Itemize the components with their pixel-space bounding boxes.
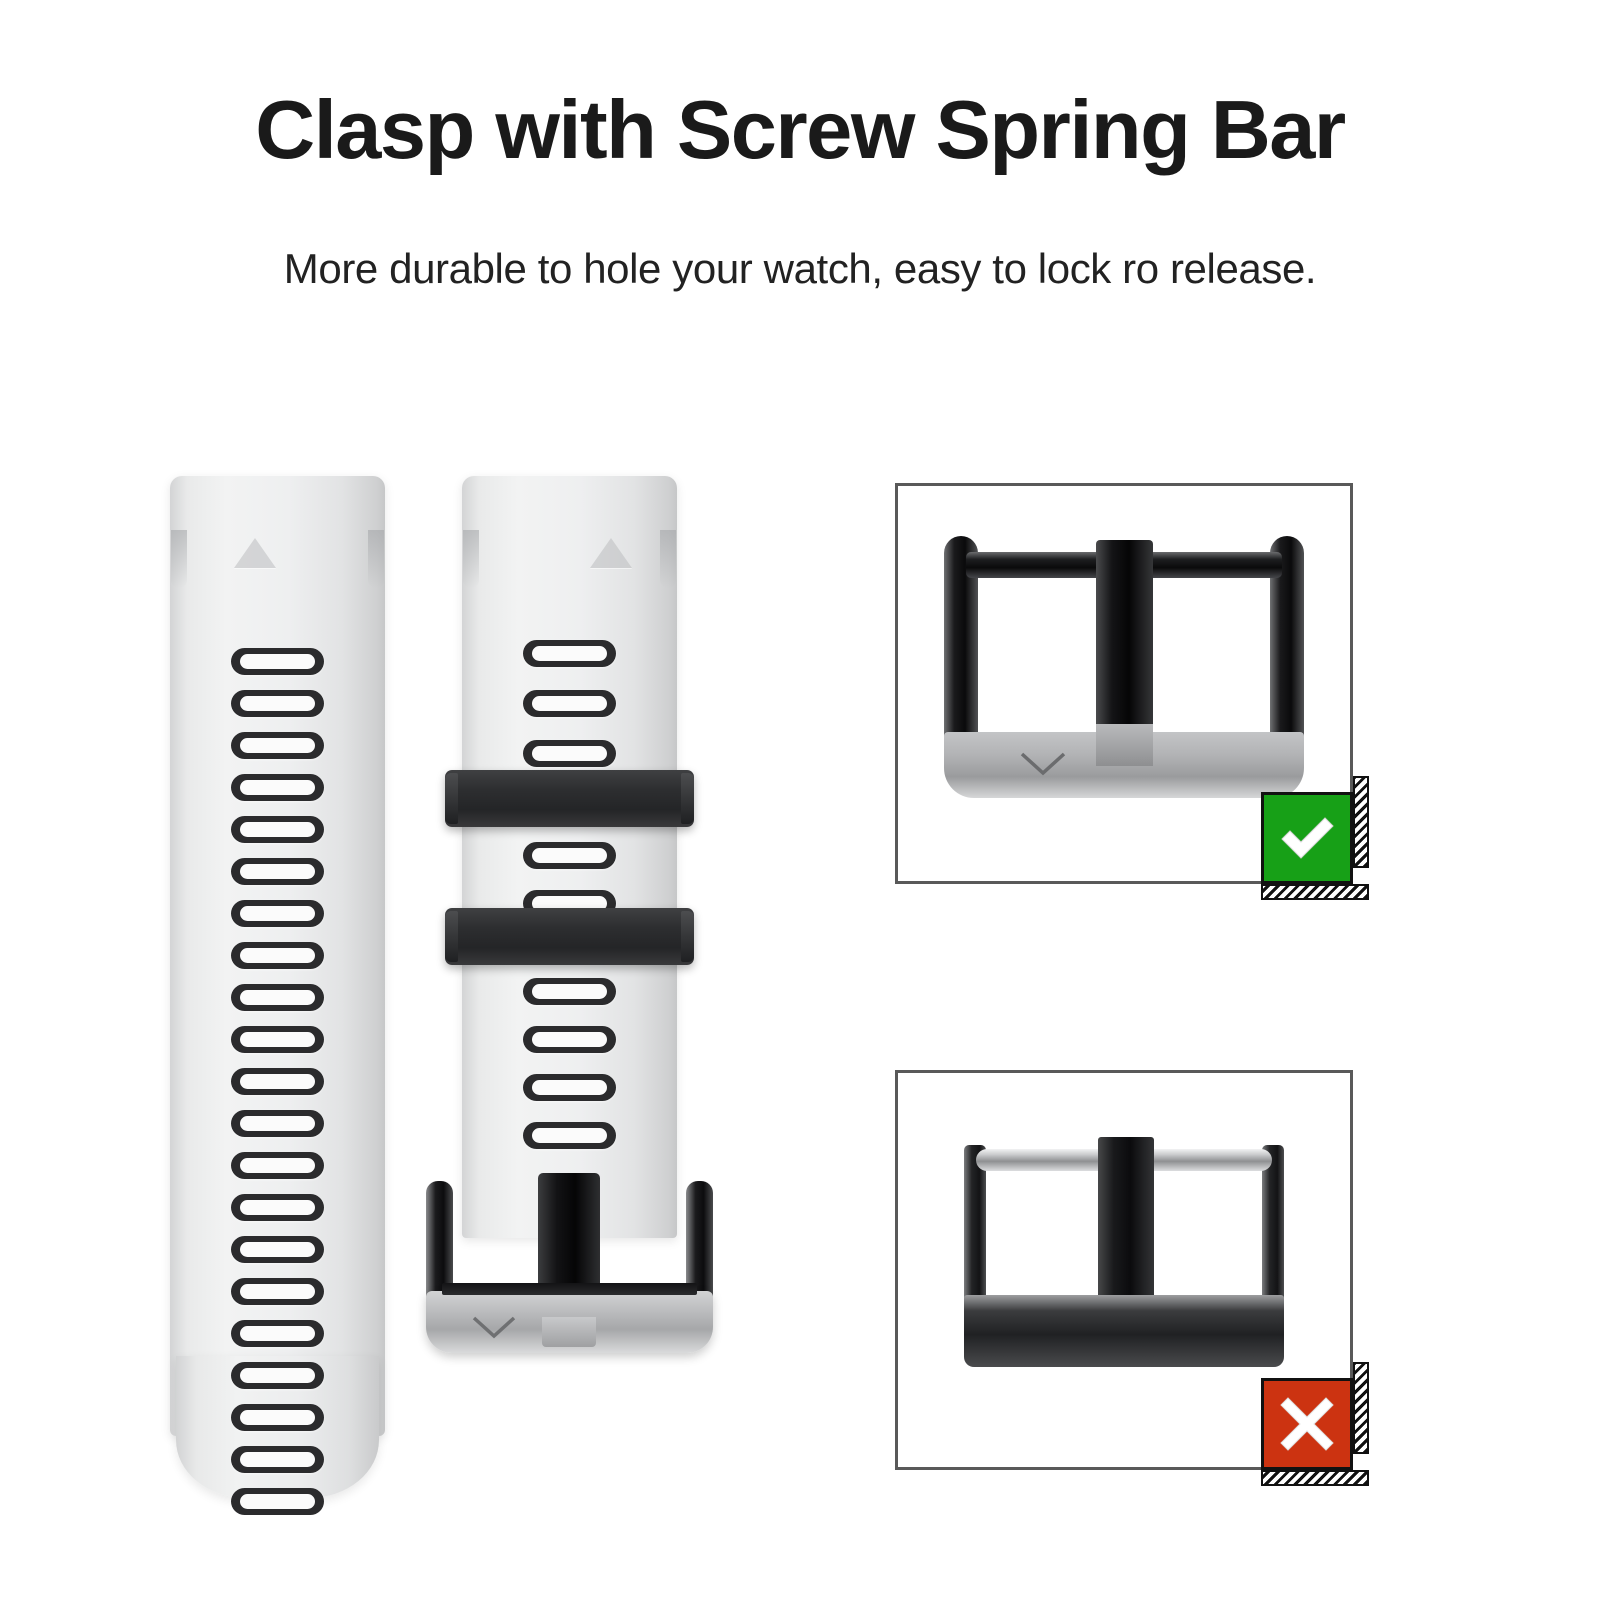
chevron-down-icon: [1019, 750, 1067, 776]
badge-shadow-bottom: [1261, 1470, 1369, 1486]
buckle-tongue-tip: [1096, 724, 1153, 766]
strap-slot: [523, 1026, 616, 1053]
pin-spring-bar-buckle-panel: [895, 1070, 1353, 1470]
screw-spring-bar-buckle-panel: [895, 483, 1353, 884]
strap-slot: [231, 816, 324, 843]
strap-slot: [523, 690, 616, 717]
strap-slot: [231, 1152, 324, 1179]
buckle-tongue: [1096, 540, 1153, 746]
triangle-up-icon: [234, 538, 276, 568]
strap-slot: [231, 1404, 324, 1431]
strap-slot: [231, 942, 324, 969]
strap-slot: [231, 984, 324, 1011]
strap-slot: [231, 1278, 324, 1305]
strap-shoulder-notch-left: [171, 530, 187, 588]
strap-slot: [231, 1110, 324, 1137]
strap-slot: [231, 690, 324, 717]
strap-slot: [523, 640, 616, 667]
strap-slot: [523, 842, 616, 869]
product-illustration-stage: [0, 0, 1600, 1600]
strap-slot: [231, 1488, 324, 1515]
status-badge-correct: [1261, 792, 1353, 884]
watch-band-long-half: [170, 476, 385, 1498]
keeper-loop: [445, 908, 694, 965]
pin-spring-bar-buckle-image: [964, 1137, 1284, 1367]
screw-spring-bar-buckle-image: [944, 536, 1304, 798]
chevron-down-icon: [472, 1315, 516, 1339]
strap-slot: [231, 732, 324, 759]
keeper-loop: [445, 770, 694, 827]
strap-slot: [231, 1236, 324, 1263]
watch-band-buckle-half: [462, 476, 677, 1346]
strap-slot: [231, 1026, 324, 1053]
check-icon: [1273, 804, 1341, 872]
badge-shadow-right: [1353, 1362, 1369, 1454]
strap-slot: [231, 1446, 324, 1473]
strap-slot: [231, 774, 324, 801]
badge-shadow-bottom: [1261, 884, 1369, 900]
strap-slot: [231, 858, 324, 885]
strap-shoulder-notch-right: [660, 530, 676, 588]
strap-slot: [523, 1122, 616, 1149]
strap-shoulder-notch-right: [368, 530, 384, 588]
triangle-up-icon: [590, 538, 632, 568]
buckle-tongue-tip: [542, 1317, 596, 1347]
strap-buckle: [426, 1181, 713, 1353]
strap-slot: [231, 1068, 324, 1095]
strap-shoulder-notch-left: [463, 530, 479, 588]
strap-slot: [523, 978, 616, 1005]
cross-icon: [1276, 1393, 1338, 1455]
strap-slot: [523, 1074, 616, 1101]
strap-slot: [231, 900, 324, 927]
strap-slot: [523, 740, 616, 767]
buckle-base: [964, 1295, 1284, 1367]
badge-shadow-right: [1353, 776, 1369, 868]
strap-slot: [231, 1320, 324, 1347]
strap-slot: [231, 648, 324, 675]
strap-slot: [231, 1194, 324, 1221]
buckle-base-bar: [442, 1283, 697, 1295]
strap-slot: [231, 1362, 324, 1389]
status-badge-incorrect: [1261, 1378, 1353, 1470]
